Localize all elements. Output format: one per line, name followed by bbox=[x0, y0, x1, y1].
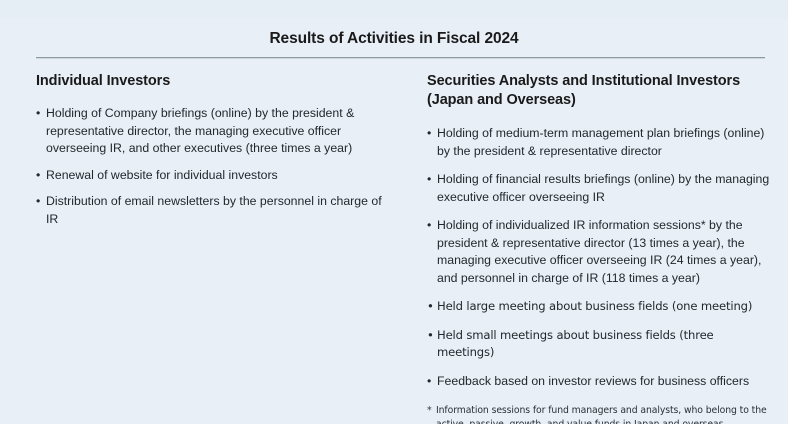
column-heading-left: Individual Investors bbox=[36, 72, 396, 91]
footnote-marker: * bbox=[427, 404, 432, 418]
list-item: Held large meeting about business fields… bbox=[427, 298, 772, 316]
panel-top-tint bbox=[0, 0, 788, 18]
list-item: Holding of individualized IR information… bbox=[427, 217, 772, 287]
list-item: Holding of Company briefings (online) by… bbox=[36, 105, 396, 158]
footnote-text: Information sessions for fund managers a… bbox=[436, 405, 767, 424]
column-heading-right-line2: (Japan and Overseas) bbox=[427, 91, 772, 110]
list-item: Feedback based on investor reviews for b… bbox=[427, 373, 772, 391]
list-item: Holding of financial results briefings (… bbox=[427, 171, 772, 206]
footnote: * Information sessions for fund managers… bbox=[427, 404, 772, 424]
list-item: Renewal of website for individual invest… bbox=[36, 167, 396, 185]
list-item: Holding of medium-term management plan b… bbox=[427, 125, 772, 160]
bullet-list-left: Holding of Company briefings (online) by… bbox=[36, 105, 396, 228]
list-item: Held small meetings about business field… bbox=[427, 327, 772, 362]
column-securities-analysts: Securities Analysts and Institutional In… bbox=[427, 72, 772, 424]
bullet-list-right: Holding of medium-term management plan b… bbox=[427, 125, 772, 390]
page-title: Results of Activities in Fiscal 2024 bbox=[0, 30, 788, 48]
column-heading-right-line1: Securities Analysts and Institutional In… bbox=[427, 72, 772, 91]
list-item: Distribution of email newsletters by the… bbox=[36, 193, 396, 228]
column-individual-investors: Individual Investors Holding of Company … bbox=[36, 72, 396, 237]
title-divider bbox=[36, 57, 765, 59]
column-heading-right: Securities Analysts and Institutional In… bbox=[427, 72, 772, 110]
content-panel: Results of Activities in Fiscal 2024 Ind… bbox=[0, 0, 788, 424]
slide-root: Results of Activities in Fiscal 2024 Ind… bbox=[0, 0, 800, 424]
